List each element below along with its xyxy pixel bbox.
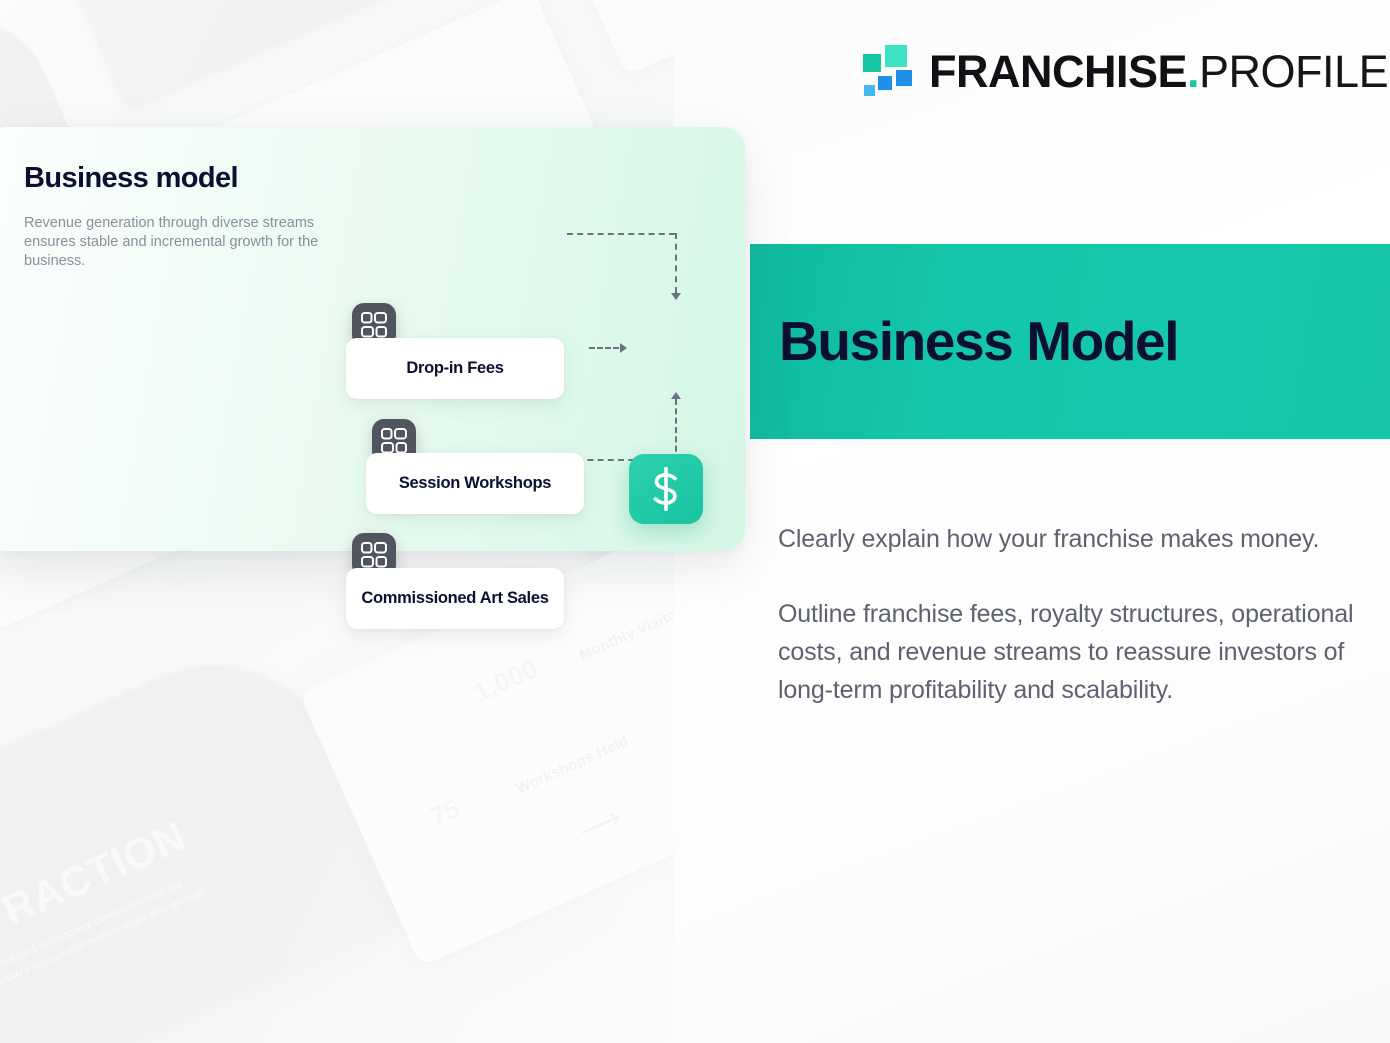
background-stat-label: Workshops Held	[514, 734, 631, 798]
revenue-stream-label: Session Workshops	[387, 474, 563, 493]
brand-name-dot: .	[1187, 46, 1199, 97]
background-stat-label: Monthly Visitors	[577, 601, 674, 664]
brand-name-bold: FRANCHISE	[929, 46, 1187, 97]
revenue-stream-label: Drop-in Fees	[394, 359, 515, 378]
revenue-stream-node[interactable]: Commissioned Art Sales	[346, 568, 564, 629]
background-stat-value: 1,000	[469, 655, 542, 707]
connector-node1-vertical	[675, 233, 677, 293]
revenue-streams-diagram: Drop-in Fees Session Workshops Commissio…	[344, 163, 734, 523]
slide-canvas: MARKET Growing demand for creative space…	[0, 0, 1390, 1043]
connector-node2-horizontal	[589, 347, 619, 349]
page-title: Business Model	[779, 314, 1178, 369]
arrowhead-down-icon	[671, 293, 681, 300]
arrowhead-right-icon	[620, 343, 627, 353]
logo-squares-icon	[851, 43, 909, 99]
description-paragraph-2: Outline franchise fees, royalty structur…	[778, 595, 1358, 709]
curved-arrow-icon: ⟶	[573, 800, 627, 849]
arrowhead-up-icon	[671, 392, 681, 399]
revenue-stream-node[interactable]: Drop-in Fees	[346, 338, 564, 399]
card-subheading: Revenue generation through diverse strea…	[24, 214, 334, 271]
revenue-stream-label: Commissioned Art Sales	[349, 589, 560, 608]
dollar-sign-icon	[629, 454, 703, 524]
background-stat-value: 75	[426, 794, 464, 831]
brand-name-light: PROFILES	[1199, 46, 1390, 97]
description-paragraph-1: Clearly explain how your franchise makes…	[778, 520, 1358, 558]
brand-wordmark: FRANCHISE.PROFILES	[929, 49, 1390, 94]
card-heading: Business model	[24, 163, 334, 195]
card-text-block: Business model Revenue generation throug…	[24, 163, 334, 270]
connector-node1-horizontal	[567, 233, 675, 235]
brand-logo[interactable]: FRANCHISE.PROFILES	[851, 43, 1390, 99]
revenue-stream-node[interactable]: Session Workshops	[366, 453, 584, 514]
connector-node3-vertical	[675, 399, 677, 461]
description-block: Clearly explain how your franchise makes…	[778, 520, 1358, 709]
section-title-banner: Business Model	[750, 244, 1390, 439]
